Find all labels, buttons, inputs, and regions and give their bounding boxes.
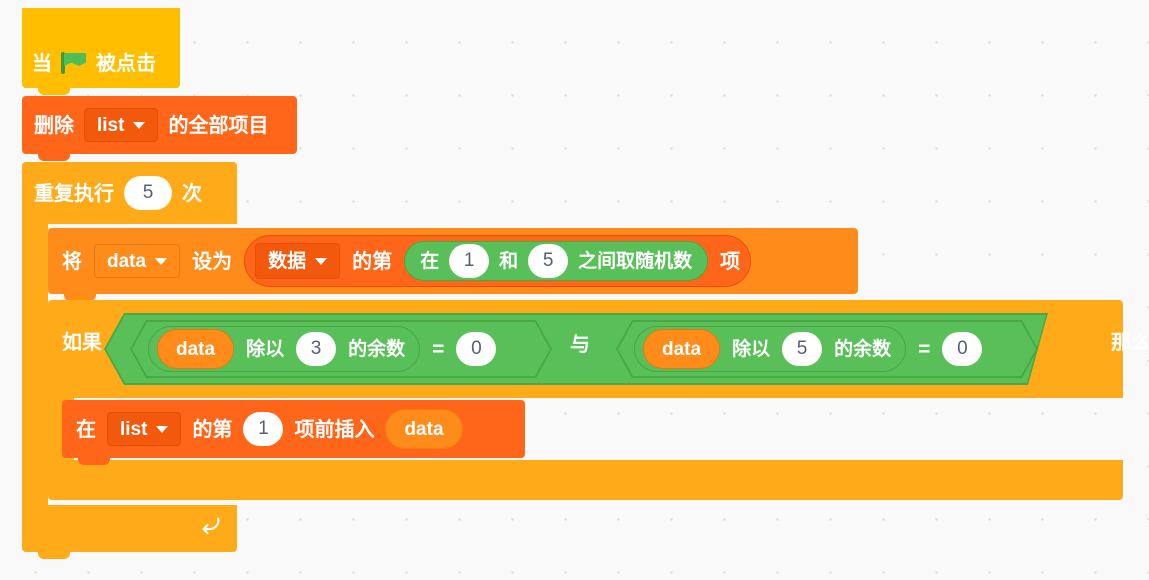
insert-value-label: data — [404, 420, 443, 439]
list-dropdown-item-of[interactable]: 数据 — [255, 243, 340, 279]
if-prefix-wrap: 如果 — [62, 332, 102, 354]
chevron-down-icon — [156, 426, 168, 433]
scratch-workspace[interactable]: 当 被点击 删除 list 的全部项目 重复执行 5 次 — [0, 0, 1149, 580]
when-flag-clicked-block[interactable]: 当 被点击 — [22, 8, 180, 88]
insert-bottom-notch — [78, 458, 110, 465]
repeat-bottom-notch — [38, 552, 70, 559]
delete-suffix-label: 的全部项目 — [168, 115, 268, 135]
mod-right-suffix-label: 的余数 — [834, 340, 891, 359]
variable-reporter-left-label: data — [176, 340, 215, 359]
and-operator-label: 与 — [570, 332, 590, 356]
insert-label-row: 在 list 的第 1 项前插入 data — [76, 400, 463, 458]
repeat-block-arm — [22, 224, 48, 505]
random-suffix-label: 之间取随机数 — [578, 252, 692, 271]
mod-left-suffix-label: 的余数 — [348, 340, 405, 359]
if-prefix-label: 如果 — [62, 330, 102, 354]
random-prefix-label: 在 — [420, 252, 439, 271]
equals-right-operator-symbol: = — [918, 339, 930, 360]
if-block-foot[interactable] — [48, 460, 1123, 500]
list-dropdown-value: list — [97, 116, 124, 135]
set-variable-block[interactable]: 将 data 设为 数据 的第 在 1 和 5 之间取随机数 项 — [48, 228, 858, 294]
random-from-input[interactable]: 1 — [449, 244, 489, 278]
hat-label-row: 当 被点击 — [32, 52, 156, 74]
item-of-list-value: 数据 — [268, 252, 306, 271]
setvar-middle-label: 设为 — [192, 251, 232, 271]
repeat-times-input[interactable]: 5 — [124, 176, 172, 210]
delete-bottom-notch — [38, 154, 70, 161]
list-dropdown-insert[interactable]: list — [107, 412, 181, 446]
equals-operator-left[interactable]: data 除以 3 的余数 = 0 — [130, 320, 552, 378]
repeat-prefix-label: 重复执行 — [34, 183, 114, 203]
insert-of-label: 的第 — [192, 419, 232, 439]
green-flag-icon — [61, 52, 87, 74]
equals-right-row: data 除以 5 的余数 = 0 — [616, 320, 982, 378]
if-suffix-label: 那么 — [1111, 330, 1149, 354]
chevron-down-icon — [315, 258, 327, 265]
mod-left-label: 除以 — [246, 340, 284, 359]
insert-list-value: list — [120, 420, 147, 439]
repeat-suffix-label: 次 — [182, 183, 202, 203]
insert-index-input[interactable]: 1 — [243, 412, 283, 446]
equals-left-compare-input[interactable]: 0 — [456, 332, 496, 366]
repeat-block-head[interactable]: 重复执行 5 次 — [22, 162, 237, 224]
random-middle-label: 和 — [499, 252, 518, 271]
chevron-down-icon — [133, 122, 145, 129]
mod-right-label: 除以 — [732, 340, 770, 359]
hat-prefix-label: 当 — [32, 53, 52, 73]
delete-label-row: 删除 list 的全部项目 — [34, 96, 268, 154]
insert-prefix-label: 在 — [76, 419, 96, 439]
insert-into-list-block[interactable]: 在 list 的第 1 项前插入 data — [62, 400, 525, 458]
delete-prefix-label: 删除 — [34, 115, 74, 135]
random-to-input[interactable]: 5 — [528, 244, 568, 278]
pick-random-reporter[interactable]: 在 1 和 5 之间取随机数 — [404, 241, 708, 281]
item-of-list-reporter[interactable]: 数据 的第 在 1 和 5 之间取随机数 项 — [244, 235, 751, 287]
hat-suffix-label: 被点击 — [96, 53, 156, 73]
variable-dropdown-value: data — [107, 252, 146, 271]
hat-bottom-notch — [38, 88, 70, 95]
equals-right-compare-input[interactable]: 0 — [942, 332, 982, 366]
equals-left-operator-symbol: = — [432, 339, 444, 360]
item-of-list-of-label: 的第 — [352, 251, 392, 271]
setvar-prefix-label: 将 — [62, 251, 82, 271]
if-suffix-wrap: 那么 — [1111, 332, 1149, 354]
mod-right-divisor-input[interactable]: 5 — [782, 332, 822, 366]
variable-reporter-data-right[interactable]: data — [643, 329, 720, 369]
list-dropdown-delete[interactable]: list — [84, 108, 158, 142]
repeat-label-row: 重复执行 5 次 — [34, 162, 202, 224]
mod-left-divisor-input[interactable]: 3 — [296, 332, 336, 366]
equals-left-row: data 除以 3 的余数 = 0 — [130, 320, 496, 378]
loop-arrow-icon — [198, 513, 224, 539]
equals-operator-right[interactable]: data 除以 5 的余数 = 0 — [616, 320, 1038, 378]
variable-reporter-data-left[interactable]: data — [157, 329, 234, 369]
variable-reporter-data-insert[interactable]: data — [385, 409, 462, 449]
variable-reporter-right-label: data — [662, 340, 701, 359]
item-of-list-tail-label: 项 — [720, 251, 740, 271]
variable-dropdown-setvar[interactable]: data — [94, 244, 180, 278]
mod-operator-left[interactable]: data 除以 3 的余数 — [148, 326, 420, 372]
insert-suffix-label: 项前插入 — [294, 419, 374, 439]
and-label-wrap: 与 — [570, 334, 590, 356]
delete-all-of-list-block[interactable]: 删除 list 的全部项目 — [22, 96, 297, 154]
setvar-label-row: 将 data 设为 数据 的第 在 1 和 5 之间取随机数 项 — [62, 228, 751, 294]
chevron-down-icon — [155, 258, 167, 265]
mod-operator-right[interactable]: data 除以 5 的余数 — [634, 326, 906, 372]
